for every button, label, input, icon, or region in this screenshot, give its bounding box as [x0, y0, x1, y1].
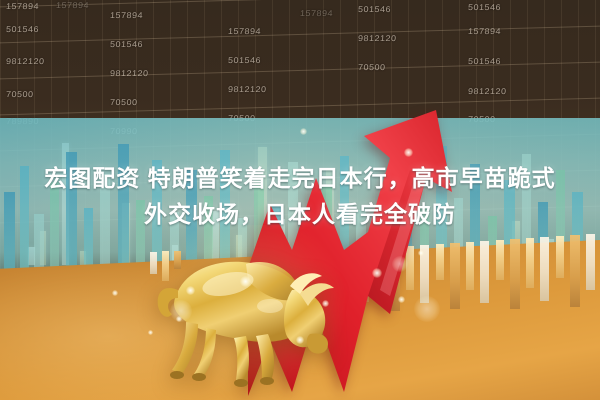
- teal-band-bar: [66, 152, 77, 270]
- bull-hoof: [260, 377, 274, 385]
- bull-rear-leg: [172, 322, 198, 374]
- teal-band-bar: [84, 208, 93, 270]
- teal-band-bar: [50, 182, 59, 270]
- floor-bar: [510, 239, 520, 309]
- floor-bar: [496, 240, 504, 280]
- teal-band-bar: [20, 166, 29, 270]
- bull-hoof: [170, 371, 184, 379]
- teal-band-bar: [100, 174, 110, 270]
- floor-bar: [586, 234, 595, 290]
- teal-band-bar: [118, 144, 129, 270]
- floor-bar: [556, 236, 564, 278]
- news-thumbnail-image: 157894 501546 9812120 70500 789890 15789…: [0, 0, 600, 400]
- bull-hoof: [192, 373, 206, 381]
- teal-band-bar: [136, 200, 145, 270]
- bull-hoof: [234, 379, 248, 387]
- bull-front-leg-2: [234, 336, 249, 380]
- floor-bar: [480, 241, 489, 303]
- bull-highlight: [257, 299, 283, 313]
- golden-bull-statue: [150, 238, 340, 393]
- bull-svg: [150, 238, 340, 393]
- floor-bar: [540, 237, 549, 301]
- floor-bar: [526, 238, 534, 288]
- teal-band-bar: [4, 192, 15, 270]
- teal-band-bar: [34, 214, 44, 270]
- floor-bar: [570, 235, 580, 307]
- bull-rear-leg-2: [194, 328, 216, 376]
- bull-muzzle: [307, 333, 328, 353]
